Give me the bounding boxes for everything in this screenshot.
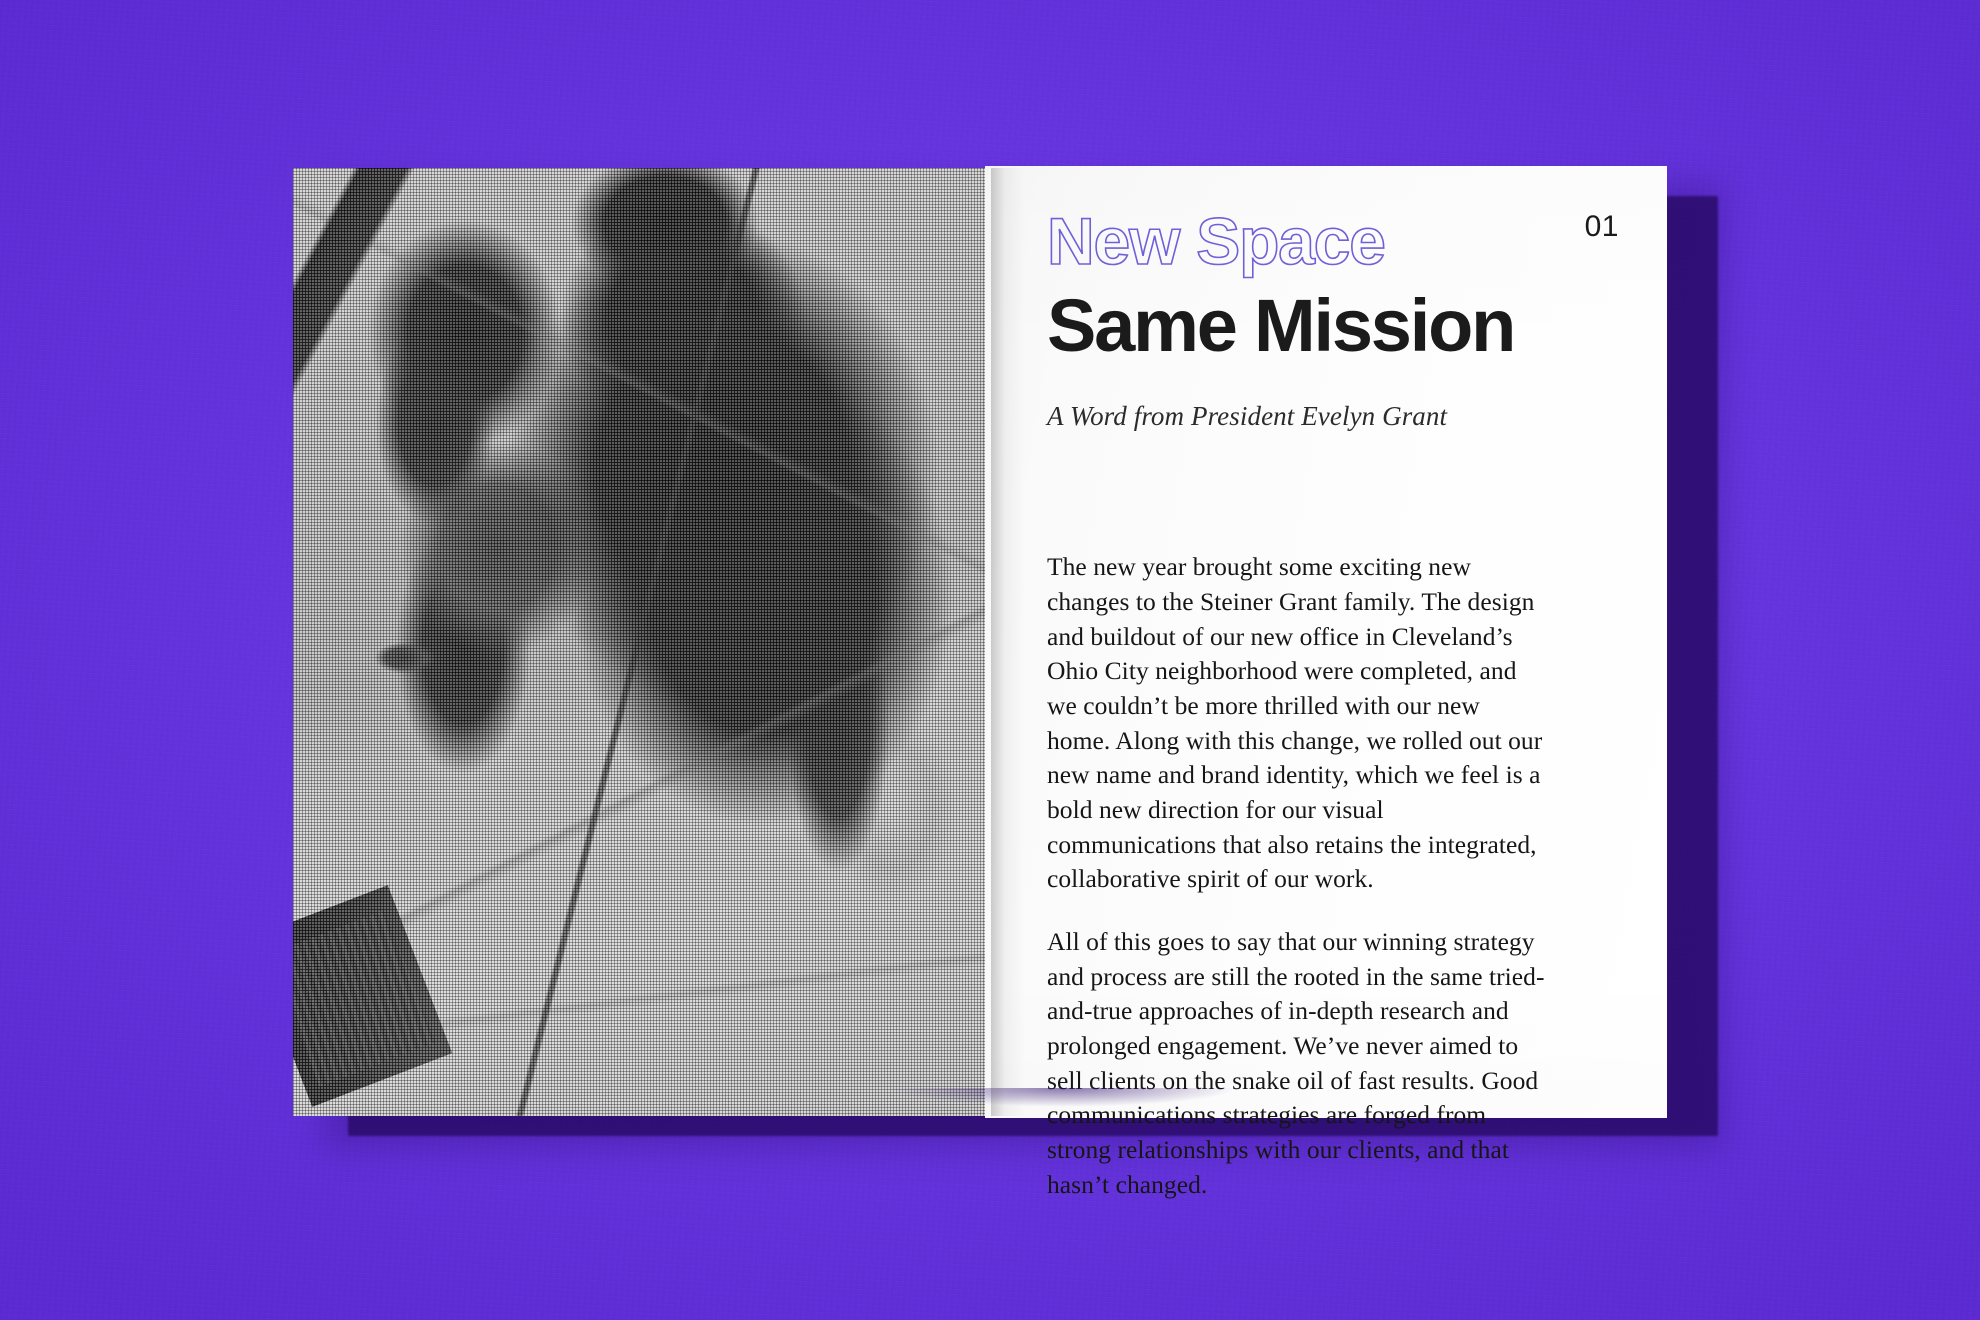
deck-subtitle: A Word from President Evelyn Grant (1047, 401, 1607, 432)
kicker-headline: New Space (1047, 208, 1607, 275)
right-page-text: 01 New Space Same Mission A Word from Pr… (985, 166, 1667, 1118)
body-paragraph: All of this goes to say that our winning… (1047, 925, 1545, 1202)
halftone-dot-screen-light (293, 168, 985, 1116)
body-copy: The new year brought some exciting new c… (1047, 550, 1545, 1202)
booklet-spread: 01 New Space Same Mission A Word from Pr… (293, 166, 1667, 1118)
right-page-content: New Space Same Mission A Word from Presi… (1047, 166, 1607, 1202)
page-title: Same Mission (1047, 289, 1607, 363)
body-paragraph: The new year brought some exciting new c… (1047, 550, 1545, 897)
left-page-photo (293, 168, 985, 1116)
